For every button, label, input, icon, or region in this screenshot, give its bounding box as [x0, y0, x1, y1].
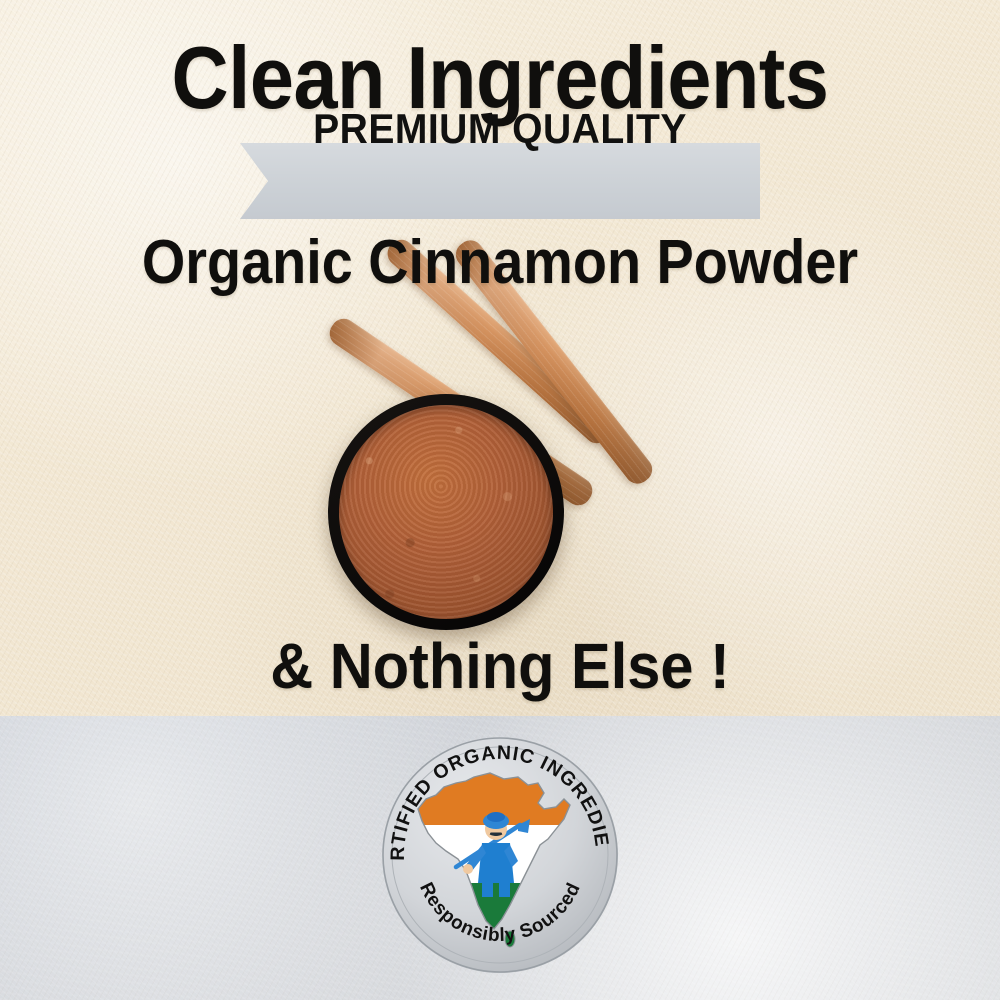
product-photo [300, 292, 700, 622]
ribbon-label-wrapper: PREMIUM QUALITY [35, 105, 965, 181]
product-name-subtitle: Organic Cinnamon Powder [50, 232, 950, 294]
certified-organic-seal: CERTIFIED ORGANIC INGREDIENTS Responsibl… [378, 733, 622, 977]
product-marketing-poster: Clean Ingredients PREMIUM QUALITY Organi… [0, 0, 1000, 1000]
cinnamon-powder [339, 405, 553, 619]
poster-tagline: & Nothing Else ! [35, 634, 965, 698]
ribbon-label-text: PREMIUM QUALITY [313, 105, 687, 152]
cinnamon-powder-bowl [328, 394, 564, 630]
